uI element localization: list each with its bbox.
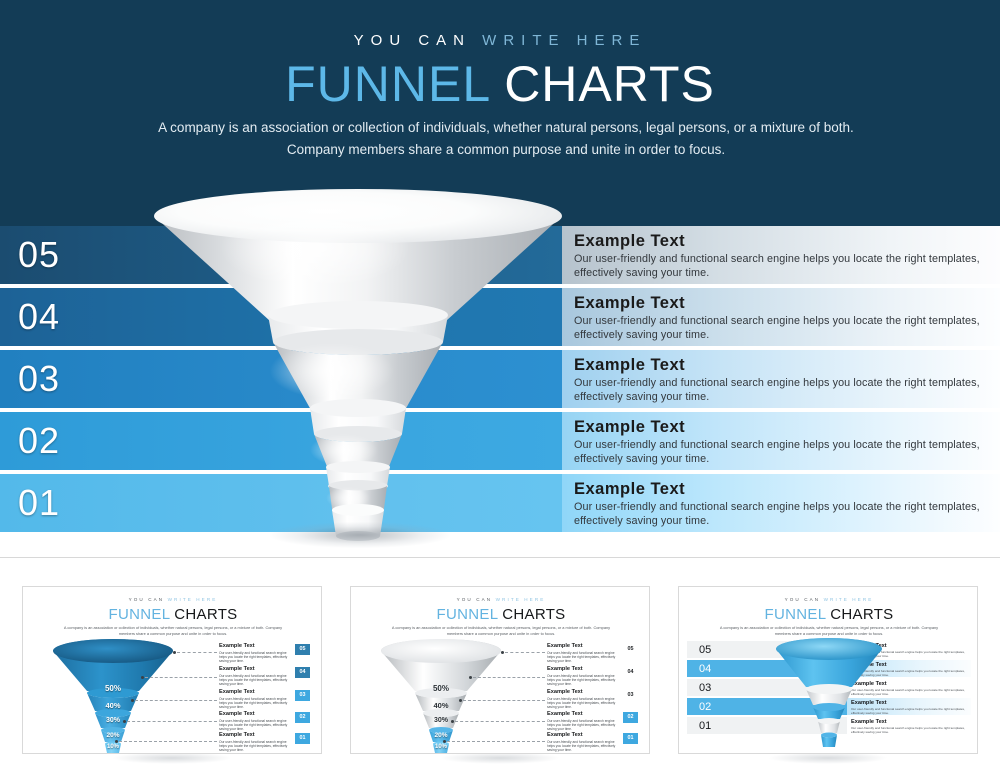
thumb1-item-3: Example Text Our user-friendly and funct… <box>219 689 291 710</box>
row-text-block-01: Example Text Our user-friendly and funct… <box>562 474 1000 532</box>
thumb1-item-4: Example Text Our user-friendly and funct… <box>219 711 291 732</box>
thumb1-item-1: Example Text Our user-friendly and funct… <box>219 643 291 664</box>
thumb2-item-4-heading: Example Text <box>547 711 619 718</box>
thumb1-badge-04: 04 <box>295 667 310 678</box>
thumb3-eyebrow-part-2: WRITE HERE <box>824 597 874 602</box>
thumb1-pct-5: 10% <box>89 744 137 750</box>
row-number-01: 01 <box>18 482 60 524</box>
thumb1-badge-02: 02 <box>295 712 310 723</box>
legend-row-01[interactable]: 01 Example Text Our user-friendly and fu… <box>0 474 1000 532</box>
title-part-2: CHARTS <box>504 56 715 112</box>
thumb1-item-2: Example Text Our user-friendly and funct… <box>219 666 291 687</box>
thumbnail-slide-3[interactable]: YOU CAN WRITE HERE FUNNEL CHARTS A compa… <box>678 586 978 754</box>
row-body-02: Our user-friendly and functional search … <box>574 439 986 466</box>
thumb2-title-part-2: CHARTS <box>502 606 565 623</box>
row-body-03: Our user-friendly and functional search … <box>574 377 986 404</box>
row-text-block-03: Example Text Our user-friendly and funct… <box>562 350 1000 408</box>
thumb3-title-part-1: FUNNEL <box>765 606 826 623</box>
thumb1-item-5: Example Text Our user-friendly and funct… <box>219 732 291 753</box>
legend-row-05[interactable]: 05 Example Text Our user-friendly and fu… <box>0 226 1000 284</box>
row-body-05: Our user-friendly and functional search … <box>574 253 986 280</box>
thumb1-item-3-body: Our user-friendly and functional search … <box>219 697 291 710</box>
thumb2-pct-2: 40% <box>417 701 465 710</box>
thumb2-title-part-1: FUNNEL <box>437 606 498 623</box>
thumb2-item-2-heading: Example Text <box>547 666 619 673</box>
main-slide: YOU CAN WRITE HERE FUNNEL CHARTS A compa… <box>0 0 1000 558</box>
thumb2-leader-3 <box>463 700 545 701</box>
thumb1-pct-2: 40% <box>89 701 137 710</box>
thumb2-pct-1: 50% <box>417 684 465 693</box>
legend-row-03[interactable]: 03 Example Text Our user-friendly and fu… <box>0 350 1000 408</box>
thumbnail-slide-2[interactable]: YOU CAN WRITE HERE FUNNEL CHARTS A compa… <box>350 586 650 754</box>
thumb1-item-5-body: Our user-friendly and functional search … <box>219 740 291 753</box>
thumb3-eyebrow: YOU CAN WRITE HERE <box>679 597 978 602</box>
thumb2-pct-5: 10% <box>417 744 465 750</box>
thumb3-title-part-2: CHARTS <box>830 606 893 623</box>
thumb1-pct-4: 20% <box>89 732 137 739</box>
thumb2-badge-02: 02 <box>623 712 638 723</box>
thumb1-item-4-heading: Example Text <box>219 711 291 718</box>
thumb1-title: FUNNEL CHARTS <box>23 606 322 623</box>
thumb2-item-5: Example Text Our user-friendly and funct… <box>547 732 619 753</box>
row-text-block-04: Example Text Our user-friendly and funct… <box>562 288 1000 346</box>
slide-header: YOU CAN WRITE HERE FUNNEL CHARTS A compa… <box>0 0 1000 226</box>
thumb1-item-3-heading: Example Text <box>219 689 291 696</box>
thumb2-leader-5 <box>447 741 545 742</box>
thumb2-eyebrow-part-2: WRITE HERE <box>496 597 546 602</box>
thumb1-eyebrow-part-2: WRITE HERE <box>168 597 218 602</box>
thumb1-item-1-body: Our user-friendly and functional search … <box>219 651 291 664</box>
thumb1-leader-2 <box>145 677 217 678</box>
row-heading-05: Example Text <box>574 231 986 251</box>
thumb1-leader-4 <box>127 721 217 722</box>
thumb1-badge-03: 03 <box>295 690 310 701</box>
thumb2-leader-2 <box>473 677 545 678</box>
thumb2-item-4-body: Our user-friendly and functional search … <box>547 719 619 732</box>
thumb1-item-5-heading: Example Text <box>219 732 291 739</box>
slide-eyebrow: YOU CAN WRITE HERE <box>0 32 1000 49</box>
thumb1-badge-05: 05 <box>295 644 310 655</box>
page-title: FUNNEL CHARTS <box>0 55 1000 113</box>
thumb1-title-part-2: CHARTS <box>174 606 237 623</box>
thumb2-leader-4 <box>455 721 545 722</box>
row-body-04: Our user-friendly and functional search … <box>574 315 986 342</box>
row-number-04: 04 <box>18 296 60 338</box>
thumb2-item-1-heading: Example Text <box>547 643 619 650</box>
row-number-block-01: 01 <box>0 474 562 532</box>
thumb2-item-1-body: Our user-friendly and functional search … <box>547 651 619 664</box>
thumb1-title-part-1: FUNNEL <box>109 606 170 623</box>
row-heading-02: Example Text <box>574 417 986 437</box>
thumb1-dot-1 <box>173 651 176 654</box>
thumb1-item-2-body: Our user-friendly and functional search … <box>219 674 291 687</box>
thumb2-item-2: Example Text Our user-friendly and funct… <box>547 666 619 687</box>
thumb2-leader-1 <box>505 652 545 653</box>
funnel-legend-rows: 05 Example Text Our user-friendly and fu… <box>0 226 1000 536</box>
row-number-05: 05 <box>18 234 60 276</box>
thumb1-item-1-heading: Example Text <box>219 643 291 650</box>
row-heading-04: Example Text <box>574 293 986 313</box>
thumb1-eyebrow-part-1: YOU CAN <box>129 597 165 602</box>
thumb2-badge-05: 05 <box>623 644 638 655</box>
thumb3-funnel-svg <box>679 635 978 753</box>
thumb1-badge-01: 01 <box>295 733 310 744</box>
thumb2-title: FUNNEL CHARTS <box>351 606 650 623</box>
thumb1-item-2-heading: Example Text <box>219 666 291 673</box>
row-text-block-02: Example Text Our user-friendly and funct… <box>562 412 1000 470</box>
thumb2-item-3-body: Our user-friendly and functional search … <box>547 697 619 710</box>
thumb1-leader-5 <box>119 741 217 742</box>
row-text-block-05: Example Text Our user-friendly and funct… <box>562 226 1000 284</box>
thumb2-dot-5 <box>443 740 446 743</box>
thumb3-stage: 05 Example Text Our user-friendly and fu… <box>679 635 978 753</box>
row-number-block-04: 04 <box>0 288 562 346</box>
row-number-03: 03 <box>18 358 60 400</box>
thumb1-dot-4 <box>123 720 126 723</box>
row-heading-01: Example Text <box>574 479 986 499</box>
eyebrow-part-2: WRITE HERE <box>482 32 646 49</box>
row-number-block-05: 05 <box>0 226 562 284</box>
row-body-01: Our user-friendly and functional search … <box>574 501 986 528</box>
row-heading-03: Example Text <box>574 355 986 375</box>
thumb3-eyebrow-part-1: YOU CAN <box>785 597 821 602</box>
thumb2-eyebrow-part-1: YOU CAN <box>457 597 493 602</box>
thumb2-badge-01: 01 <box>623 733 638 744</box>
thumb1-leader-1 <box>177 652 217 653</box>
thumb2-item-3: Example Text Our user-friendly and funct… <box>547 689 619 710</box>
legend-row-04[interactable]: 04 Example Text Our user-friendly and fu… <box>0 288 1000 346</box>
thumb2-item-4: Example Text Our user-friendly and funct… <box>547 711 619 732</box>
thumb1-dot-2 <box>141 676 144 679</box>
thumb2-item-1: Example Text Our user-friendly and funct… <box>547 643 619 664</box>
thumb2-item-5-heading: Example Text <box>547 732 619 739</box>
legend-row-02[interactable]: 02 Example Text Our user-friendly and fu… <box>0 412 1000 470</box>
thumb2-badge-04: 04 <box>623 667 638 678</box>
thumb1-pct-1: 50% <box>89 684 137 693</box>
thumb1-dot-3 <box>131 699 134 702</box>
thumb2-pct-4: 20% <box>417 732 465 739</box>
thumb2-item-5-body: Our user-friendly and functional search … <box>547 740 619 753</box>
slide-subtitle: A company is an association or collectio… <box>150 117 862 161</box>
thumb1-eyebrow: YOU CAN WRITE HERE <box>23 597 322 602</box>
row-number-block-03: 03 <box>0 350 562 408</box>
thumb2-dot-3 <box>459 699 462 702</box>
thumb2-eyebrow: YOU CAN WRITE HERE <box>351 597 650 602</box>
title-part-1: FUNNEL <box>285 56 489 112</box>
thumb3-title: FUNNEL CHARTS <box>679 606 978 623</box>
thumb2-badge-03: 03 <box>623 690 638 701</box>
thumb2-dot-2 <box>469 676 472 679</box>
eyebrow-part-1: YOU CAN <box>354 32 471 49</box>
thumb2-stage: 50% 40% 30% 20% 10% Example Text Our use… <box>351 635 650 753</box>
thumbnail-slide-1[interactable]: YOU CAN WRITE HERE FUNNEL CHARTS A compa… <box>22 586 322 754</box>
thumb1-stage: 50% 40% 30% 20% 10% Example Text Our use… <box>23 635 322 753</box>
thumb2-dot-1 <box>501 651 504 654</box>
thumb1-dot-5 <box>115 740 118 743</box>
thumb1-item-4-body: Our user-friendly and functional search … <box>219 719 291 732</box>
thumb2-item-3-heading: Example Text <box>547 689 619 696</box>
thumb1-leader-3 <box>135 700 217 701</box>
thumbnail-strip: YOU CAN WRITE HERE FUNNEL CHARTS A compa… <box>0 558 1000 778</box>
thumb2-dot-4 <box>451 720 454 723</box>
row-number-02: 02 <box>18 420 60 462</box>
thumb2-item-2-body: Our user-friendly and functional search … <box>547 674 619 687</box>
row-number-block-02: 02 <box>0 412 562 470</box>
